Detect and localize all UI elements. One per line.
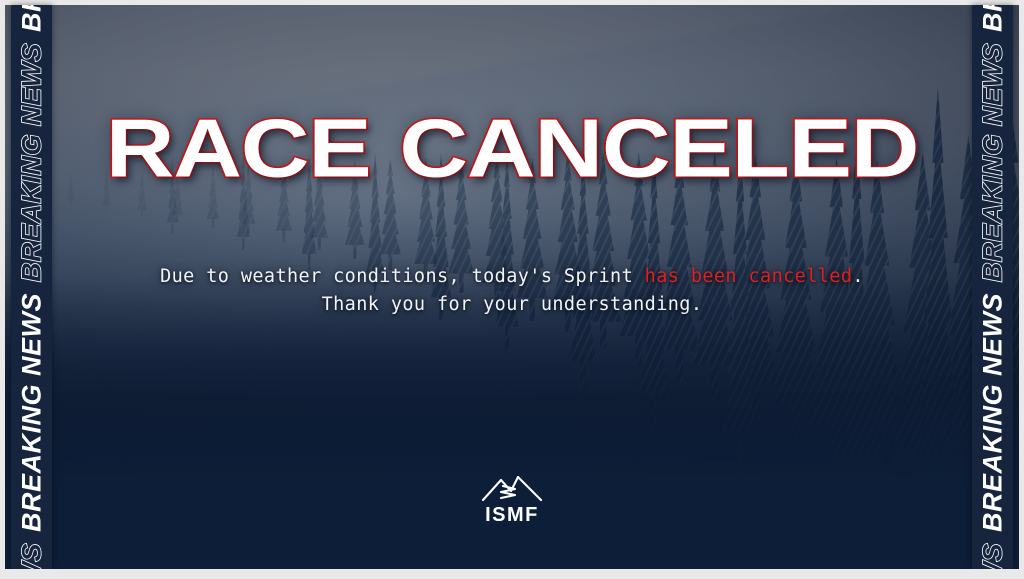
announcement-line-2: Thank you for your understanding.: [75, 291, 949, 319]
announcement-highlight: has been cancelled: [645, 266, 853, 287]
breaking-news-label: BREAKING NEWS: [977, 42, 1008, 281]
breaking-news-label: BREAKING NEWS: [16, 543, 47, 569]
breaking-news-label: BREAKING NEWS: [977, 293, 1008, 532]
breaking-news-poster: RACE CANCELED Due to weather conditions,…: [0, 0, 1024, 579]
breaking-news-band-left: BREAKING NEWSBREAKING NEWSBREAKING NEWSB…: [11, 5, 52, 569]
ismf-logo-text: ISMF: [5, 504, 1019, 527]
announcement-line-1: Due to weather conditions, today's Sprin…: [75, 263, 949, 291]
announcement-text: Due to weather conditions, today's Sprin…: [75, 263, 949, 319]
announcement-prefix: Due to weather conditions, today's Sprin…: [160, 266, 645, 287]
bottom-frame-strip: [0, 569, 1024, 579]
breaking-news-label: BREAKING NEWS: [977, 5, 1008, 31]
breaking-news-band-right: BREAKING NEWSBREAKING NEWSBREAKING NEWSB…: [972, 5, 1013, 569]
mountain-skintrack-icon: [5, 472, 1019, 502]
breaking-news-band-right-inner: BREAKING NEWSBREAKING NEWSBREAKING NEWSB…: [972, 5, 1013, 569]
ismf-logo: ISMF: [5, 472, 1019, 527]
breaking-news-band-left-inner: BREAKING NEWSBREAKING NEWSBREAKING NEWSB…: [11, 5, 52, 569]
breaking-news-label: BREAKING NEWS: [16, 293, 47, 532]
breaking-news-label: BREAKING NEWS: [16, 5, 47, 31]
breaking-news-label: BREAKING NEWS: [16, 42, 47, 281]
announcement-suffix: .: [852, 266, 864, 287]
poster-stage: RACE CANCELED Due to weather conditions,…: [5, 5, 1019, 569]
breaking-news-label: BREAKING NEWS: [977, 543, 1008, 569]
